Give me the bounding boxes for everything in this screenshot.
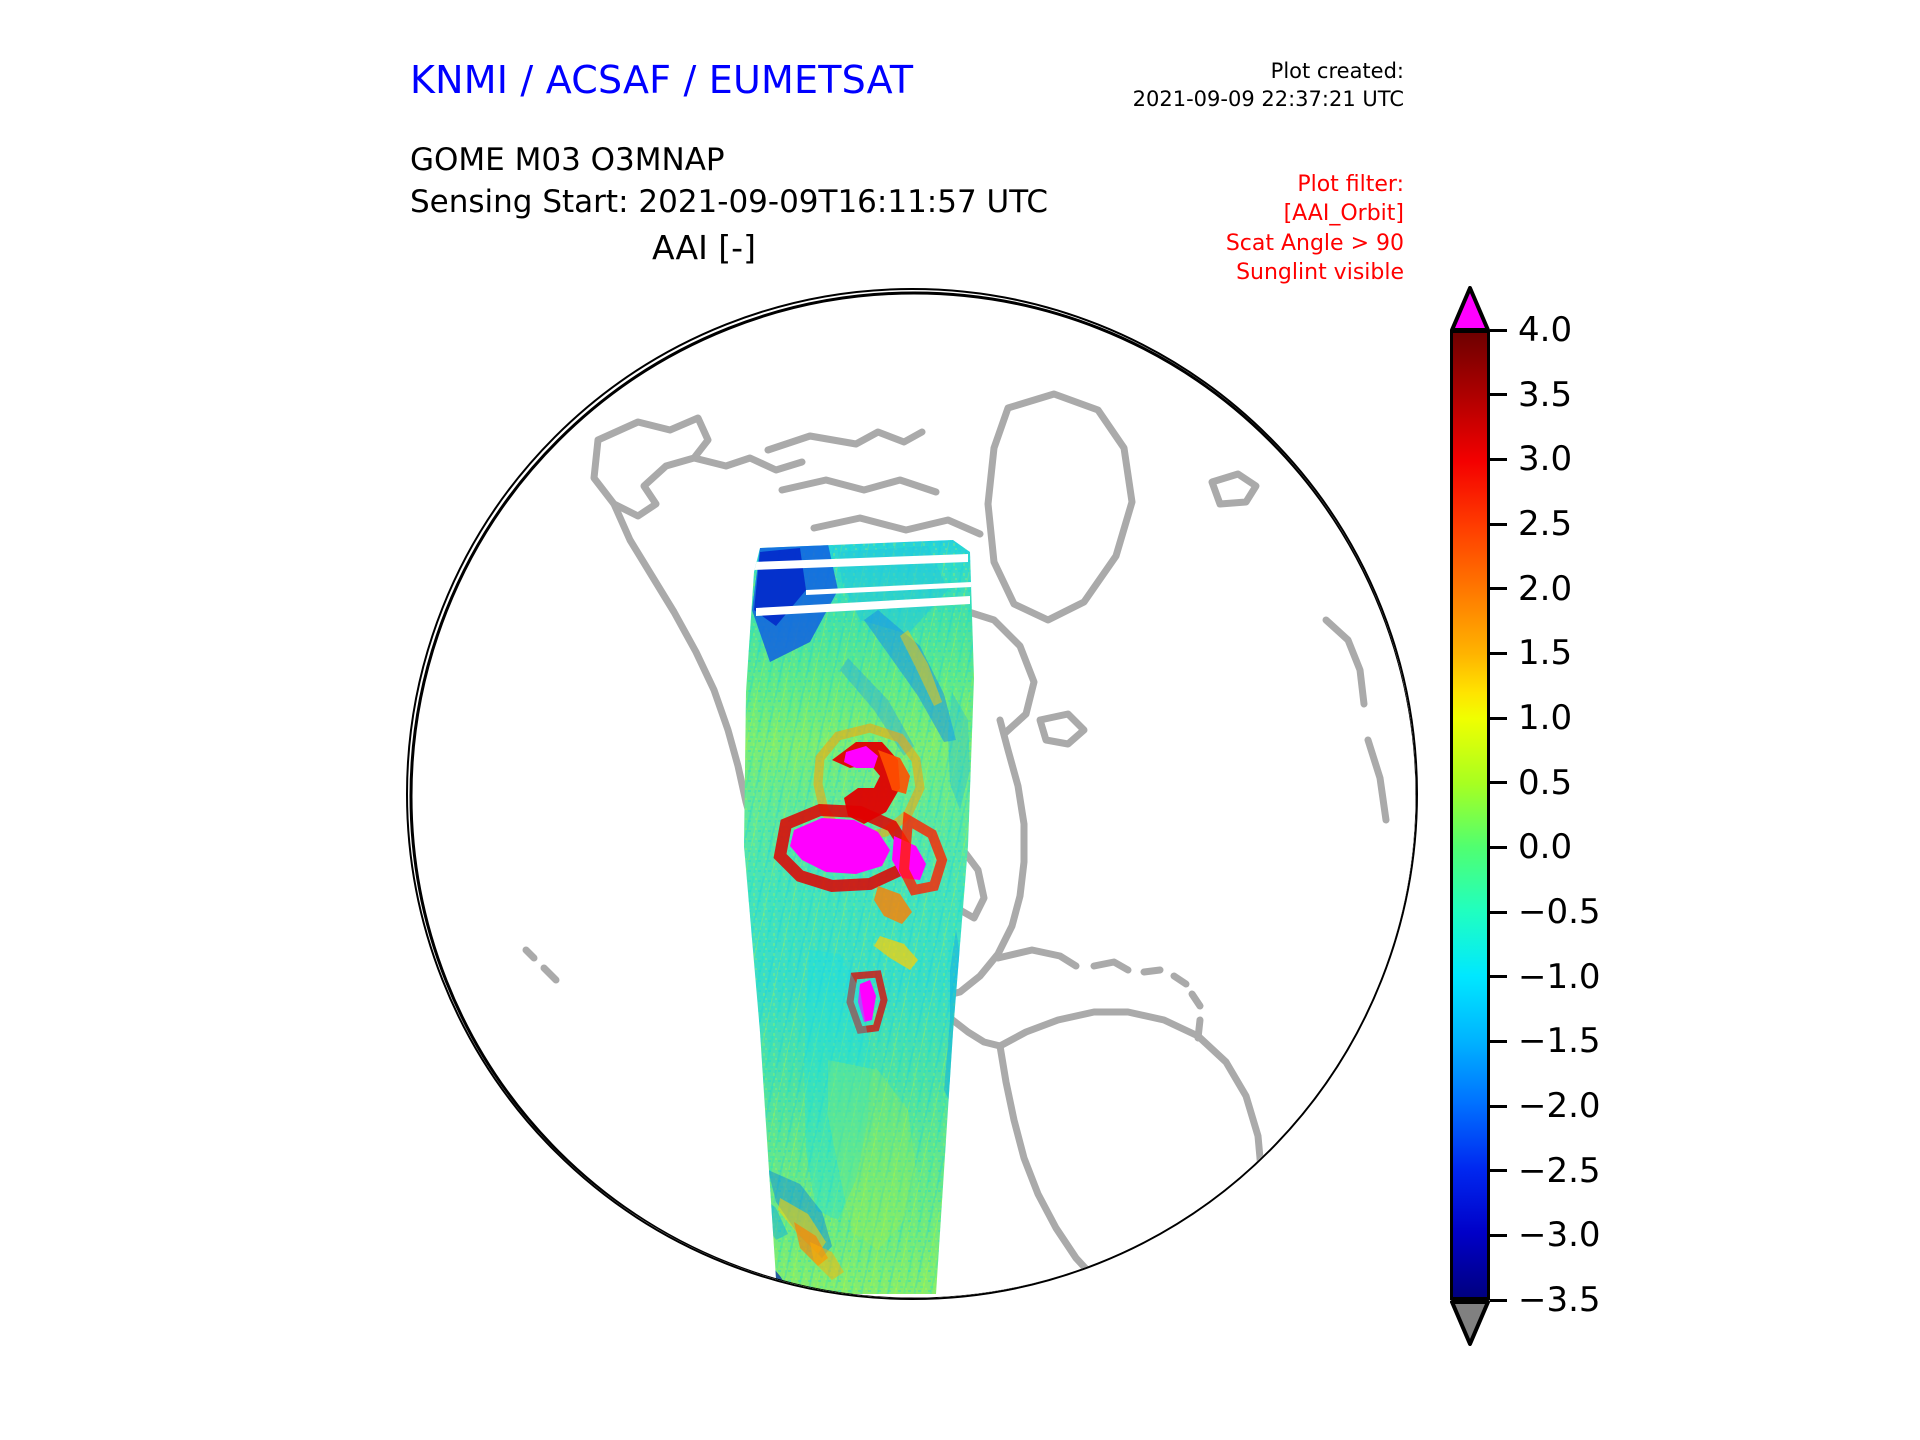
- plot-filter-line-3: Sunglint visible: [1226, 258, 1404, 287]
- header-institutions: KNMI / ACSAF / EUMETSAT: [410, 58, 913, 102]
- colorbar-tick-label: −2.0: [1518, 1089, 1601, 1123]
- colorbar-tick: [1490, 846, 1507, 849]
- plot-created-value: 2021-09-09 22:37:21 UTC: [1133, 86, 1404, 114]
- plot-filter-block: Plot filter: [AAI_Orbit] Scat Angle > 90…: [1226, 170, 1404, 287]
- colorbar-tick: [1490, 329, 1507, 332]
- colorbar-gradient: [1450, 330, 1490, 1300]
- plot-filter-line-1: [AAI_Orbit]: [1226, 199, 1404, 228]
- plot-created-label: Plot created:: [1133, 58, 1404, 86]
- colorbar-tick: [1490, 393, 1507, 396]
- colorbar-tick: [1490, 458, 1507, 461]
- colorbar-tick-label: −1.5: [1518, 1024, 1601, 1058]
- sensing-start: Sensing Start: 2021-09-09T16:11:57 UTC: [410, 182, 1048, 224]
- product-name: GOME M03 O3MNAP: [410, 140, 1048, 182]
- colorbar-tick: [1490, 1040, 1507, 1043]
- colorbar-tick: [1490, 781, 1507, 784]
- globe-disc: [406, 288, 1418, 1300]
- colorbar-tick: [1490, 523, 1507, 526]
- plot-created-block: Plot created: 2021-09-09 22:37:21 UTC: [1133, 58, 1404, 113]
- page-title: AAI [-]: [0, 228, 1408, 267]
- globe-svg: [408, 290, 1418, 1300]
- colorbar-tick-label: −1.0: [1518, 960, 1601, 994]
- colorbar-tick: [1490, 652, 1507, 655]
- colorbar-tick: [1490, 975, 1507, 978]
- colorbar: 4.03.53.02.52.01.51.00.50.0−0.5−1.0−1.5−…: [1442, 286, 1842, 1316]
- colorbar-tick: [1490, 1169, 1507, 1172]
- colorbar-tick-label: 3.0: [1518, 442, 1572, 476]
- colorbar-tick-label: 2.5: [1518, 507, 1572, 541]
- colorbar-tick-label: −3.0: [1518, 1218, 1601, 1252]
- colorbar-tick: [1490, 717, 1507, 720]
- colorbar-tick: [1490, 911, 1507, 914]
- colorbar-under-arrow-icon: [1450, 1298, 1490, 1346]
- product-block: GOME M03 O3MNAP Sensing Start: 2021-09-0…: [410, 140, 1048, 224]
- colorbar-tick-label: 1.0: [1518, 701, 1572, 735]
- colorbar-tick-label: −2.5: [1518, 1154, 1601, 1188]
- colorbar-tick: [1490, 587, 1507, 590]
- plot-filter-line-0: Plot filter:: [1226, 170, 1404, 199]
- colorbar-over-arrow-icon: [1450, 286, 1490, 332]
- colorbar-tick-label: 4.0: [1518, 313, 1572, 347]
- colorbar-tick-label: −3.5: [1518, 1283, 1601, 1317]
- colorbar-tick: [1490, 1234, 1507, 1237]
- colorbar-tick: [1490, 1299, 1507, 1302]
- colorbar-tick-label: 0.0: [1518, 830, 1572, 864]
- colorbar-tick-label: 3.5: [1518, 378, 1572, 412]
- colorbar-tick-label: 1.5: [1518, 636, 1572, 670]
- map-plot-area: [406, 288, 1418, 1300]
- colorbar-tick: [1490, 1105, 1507, 1108]
- colorbar-tick-label: −0.5: [1518, 895, 1601, 929]
- plot-filter-line-2: Scat Angle > 90: [1226, 229, 1404, 258]
- colorbar-tick-label: 0.5: [1518, 766, 1572, 800]
- colorbar-tick-label: 2.0: [1518, 572, 1572, 606]
